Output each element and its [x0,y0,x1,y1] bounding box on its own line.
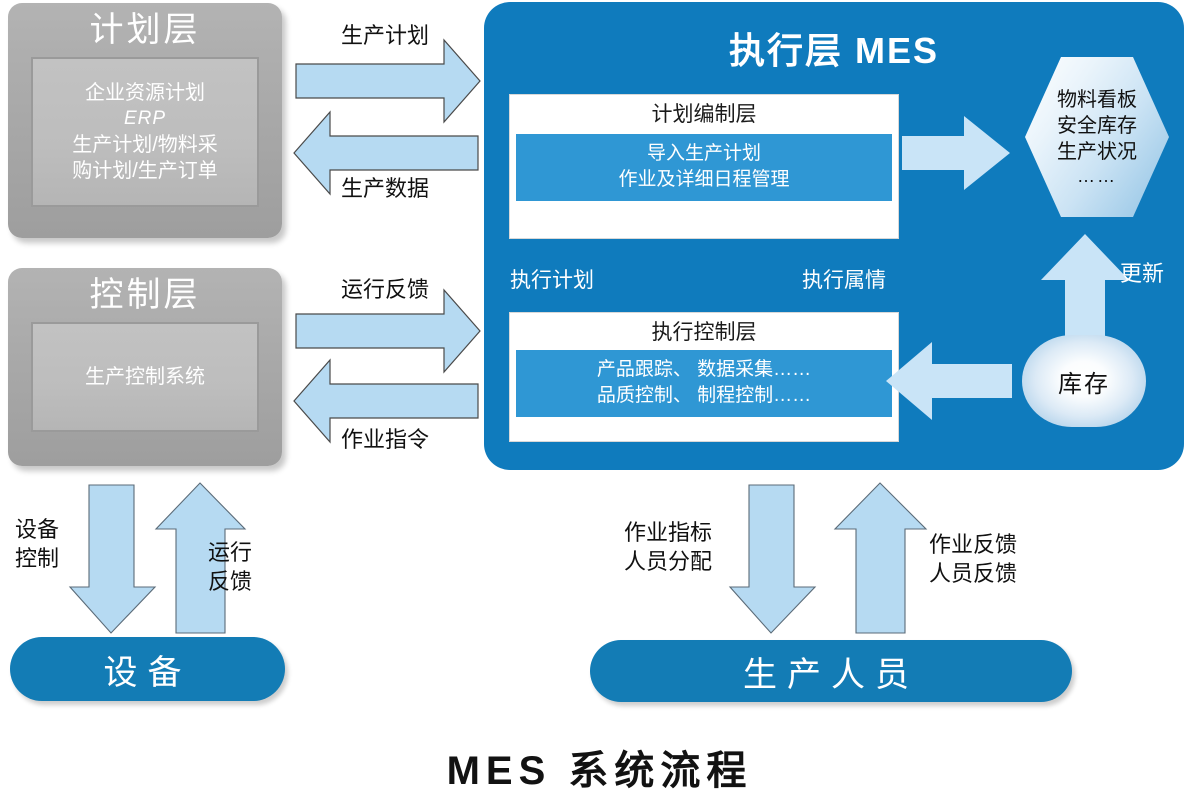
planning-layer-box: 计划层 企业资源计划 ERP 生产计划/物料采 购计划/生产订单 [8,3,282,238]
mes-execution-panel: 执行层 MES 计划编制层 导入生产计划 作业及详细日程管理 执行计划 执行属情… [484,2,1184,470]
planning-body-line-1: 导入生产计划 [516,141,892,167]
planning-compilation-card: 计划编制层 导入生产计划 作业及详细日程管理 [509,94,899,239]
hexagon-line-4: …… [1077,165,1117,187]
inventory-update-arrow-svg [1039,232,1131,340]
update-label: 更新 [1120,260,1160,287]
personnel-task-label: 作业指标 人员分配 [610,518,726,576]
personnel-arrow-group [730,483,930,635]
control-layer-title: 控制层 [8,278,282,312]
page-title: MES 系统流程 [0,738,1199,796]
arrow-down-personnel-task [730,485,815,633]
personnel-feedback-line-2: 人员反馈 [915,559,1031,588]
execution-control-header: 执行控制层 [516,318,892,348]
equipment-pill: 设备 [10,637,285,701]
plan-to-kanban-arrow-svg [902,114,1012,192]
equipment-control-line-2: 控制 [5,544,69,573]
execution-control-body: 产品跟踪、 数据采集…… 品质控制、 制程控制…… [516,350,892,417]
arrow-down-equipment-control [70,485,155,633]
inventory-to-execution-arrow [884,340,1014,422]
plan-to-kanban-arrow [902,114,1012,192]
execution-control-card: 执行控制层 产品跟踪、 数据采集…… 品质控制、 制程控制…… [509,312,899,442]
personnel-task-line-2: 人员分配 [610,547,726,576]
mes-to-control-label: 作业指令 [300,425,470,454]
arrow-up-personnel-feedback [835,483,926,633]
personnel-task-line-1: 作业指标 [610,518,726,547]
personnel-feedback-line-1: 作业反馈 [915,530,1031,559]
mes-to-plan-label: 生产数据 [300,174,470,203]
control-system-line: 生产控制系统 [85,364,205,390]
hexagon-line-1: 物料看板 [1057,87,1137,113]
planning-layer-inner-box: 企业资源计划 ERP 生产计划/物料采 购计划/生产订单 [31,57,259,207]
control-layer-box: 控制层 生产控制系统 [8,268,282,466]
inventory-to-execution-arrow-svg [884,340,1014,422]
equipment-control-label: 设备 控制 [5,515,69,573]
erp-line-4: 购计划/生产订单 [72,158,218,184]
equipment-control-line-1: 设备 [5,515,69,544]
planning-body-line-2: 作业及详细日程管理 [516,167,892,193]
hexagon-line-2: 安全库存 [1057,113,1137,139]
erp-line-2: ERP [124,106,166,132]
personnel-pill: 生产人员 [590,640,1072,702]
control-layer-inner-box: 生产控制系统 [31,322,259,432]
personnel-arrows-svg [730,483,930,635]
execution-plan-label: 执行计划 [510,264,594,294]
planning-compilation-body: 导入生产计划 作业及详细日程管理 [516,134,892,201]
inventory-update-arrow [1039,232,1131,340]
execution-body-line-1: 产品跟踪、 数据采集…… [516,357,892,383]
plan-to-mes-label: 生产计划 [300,21,470,50]
planning-layer-title: 计划层 [8,13,282,47]
control-to-mes-label: 运行反馈 [300,275,470,304]
equipment-feedback-label: 运行 反馈 [198,538,262,596]
execution-body-line-2: 品质控制、 制程控制…… [516,383,892,409]
execution-status-label: 执行属情 [802,264,886,294]
hexagon-line-3: 生产状况 [1057,139,1137,165]
equipment-feedback-line-2: 反馈 [198,567,262,596]
inventory-shape: 库存 [1022,335,1146,427]
erp-line-3: 生产计划/物料采 [72,132,218,158]
planning-compilation-header: 计划编制层 [516,100,892,130]
arrow-right-plan-to-mes [296,40,480,122]
equipment-feedback-line-1: 运行 [198,538,262,567]
material-kanban-hexagon: 物料看板 安全库存 生产状况 …… [1025,57,1169,217]
erp-line-1: 企业资源计划 [85,80,205,106]
personnel-feedback-label: 作业反馈 人员反馈 [915,530,1031,588]
